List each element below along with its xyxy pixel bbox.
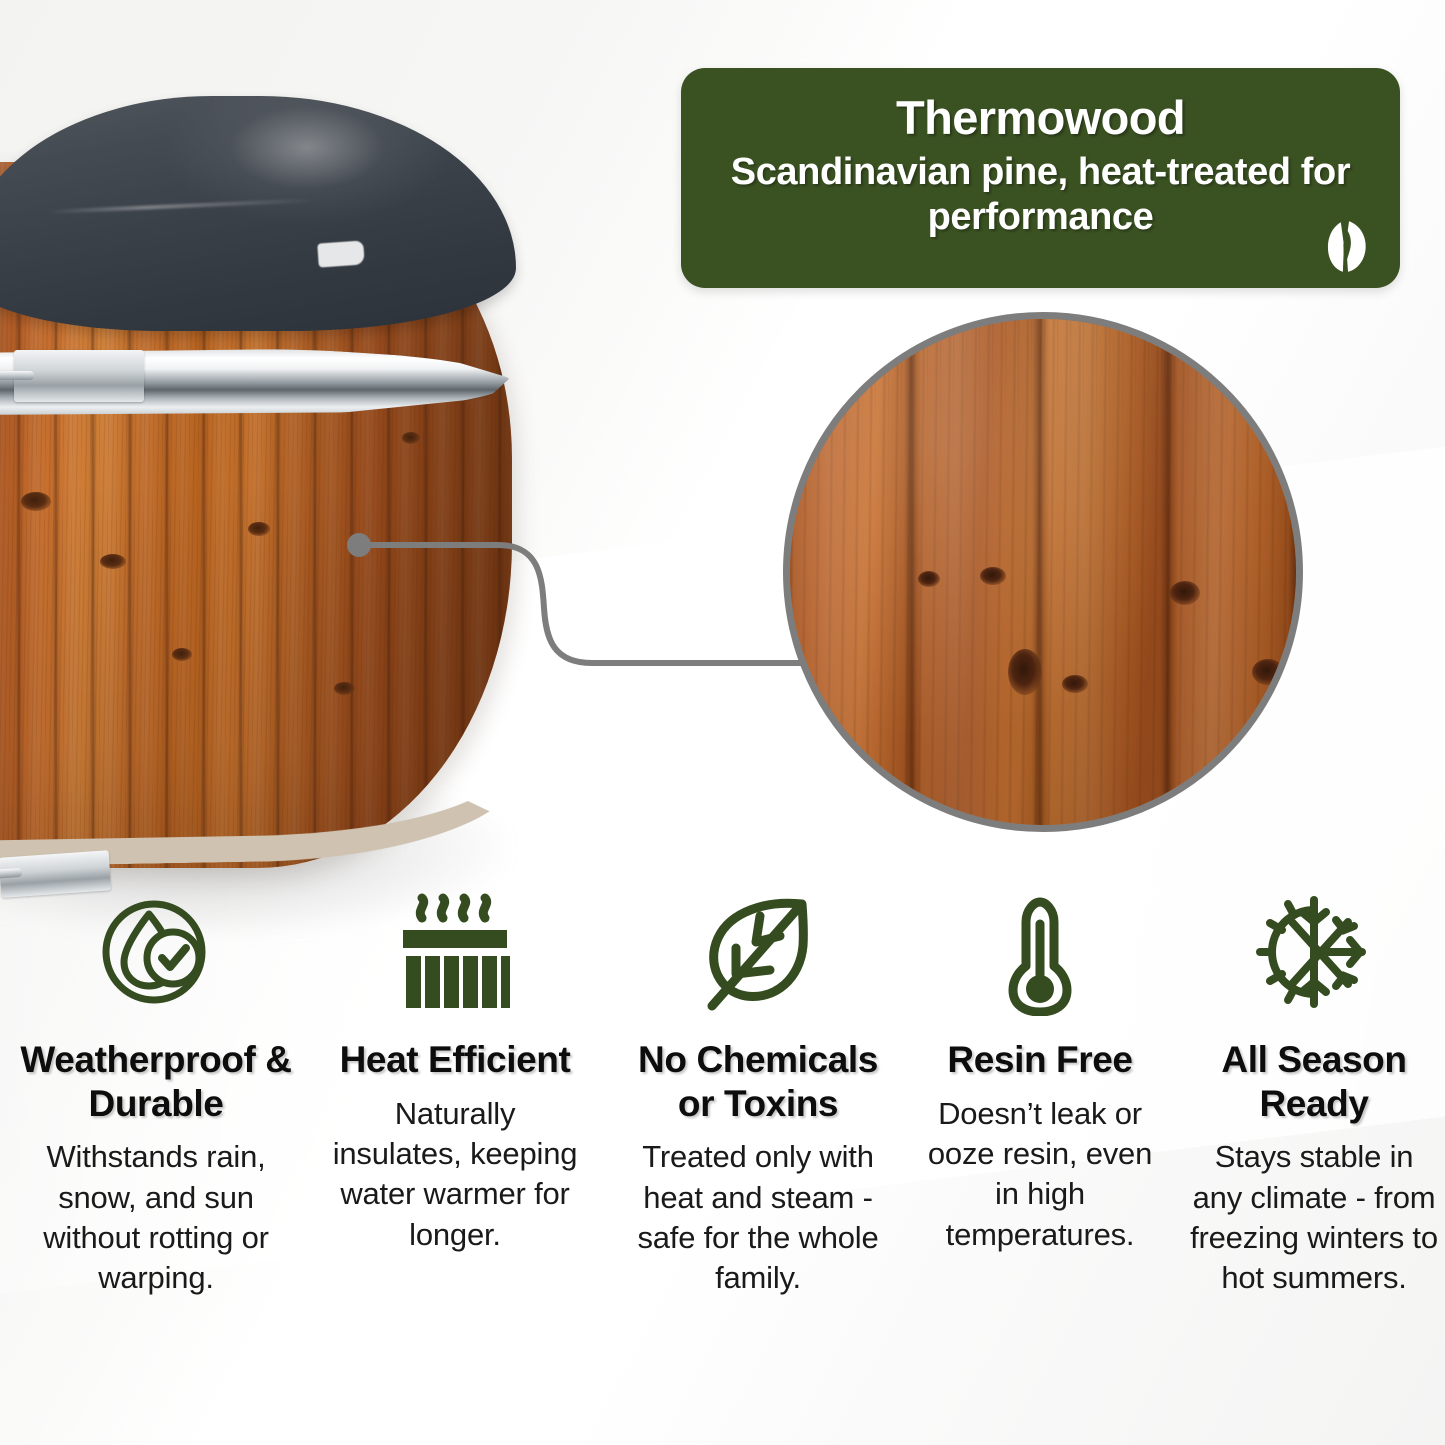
hot-tub-lid: [0, 96, 516, 331]
magnified-wood-grain-circle: [783, 312, 1303, 832]
wood-knot: [1062, 675, 1088, 693]
feature-title: Heat Efficient: [330, 1038, 580, 1082]
feature-title: All Season Ready: [1190, 1038, 1438, 1125]
wood-knot: [918, 571, 940, 587]
heat-radiator-icon: [330, 886, 580, 1018]
wood-knot: [1252, 659, 1284, 685]
feature-resin-free: Resin Free Doesn’t leak or ooze resin, e…: [925, 886, 1155, 1255]
title-badge: Thermowood Scandinavian pine, heat-treat…: [681, 68, 1400, 288]
wood-knot: [334, 682, 355, 695]
feature-title: No Chemicals or Toxins: [618, 1038, 898, 1125]
water-drop-check-icon: [20, 886, 292, 1018]
feature-description: Stays stable in any climate - from freez…: [1190, 1137, 1438, 1298]
feature-all-season: All Season Ready Stays stable in any cli…: [1190, 886, 1438, 1299]
wood-knot: [248, 522, 270, 536]
wood-knot: [1170, 581, 1200, 605]
feature-description: Naturally insulates, keeping water warme…: [330, 1094, 580, 1255]
wood-knot: [1008, 649, 1042, 695]
feature-heat-efficient: Heat Efficient Naturally insulates, keep…: [330, 886, 580, 1255]
feature-description: Doesn’t leak or ooze resin, even in high…: [925, 1094, 1155, 1255]
badge-subtitle: Scandinavian pine, heat-treated for perf…: [693, 150, 1388, 240]
wood-knot: [100, 554, 126, 569]
leaf-seed-logo-icon: [1314, 214, 1380, 280]
wood-knot: [980, 567, 1006, 585]
wood-knot: [172, 648, 192, 661]
feature-weatherproof: Weatherproof & Durable Withstands rain, …: [20, 886, 292, 1299]
feature-description: Withstands rain, snow, and sun without r…: [20, 1137, 292, 1298]
infographic-page: Thermowood Scandinavian pine, heat-treat…: [0, 0, 1445, 1445]
feature-description: Treated only with heat and steam - safe …: [618, 1137, 898, 1298]
lid-reflection-streak: [46, 198, 316, 214]
magnified-wood-texture: [784, 313, 1302, 831]
wood-knot: [21, 492, 51, 511]
sun-snowflake-icon: [1190, 886, 1438, 1018]
hoop-tensioner-rod-upper: [0, 371, 34, 380]
feature-no-chemicals: No Chemicals or Toxins Treated only with…: [618, 886, 898, 1299]
hot-tub-photo: [0, 96, 530, 864]
lid-highlight: [317, 240, 365, 267]
feature-title: Resin Free: [925, 1038, 1155, 1082]
wood-knot: [402, 432, 420, 444]
leaf-icon: [618, 886, 898, 1018]
thermometer-icon: [925, 886, 1155, 1018]
feature-row: Weatherproof & Durable Withstands rain, …: [0, 886, 1445, 1445]
badge-title: Thermowood: [681, 90, 1400, 145]
feature-title: Weatherproof & Durable: [20, 1038, 292, 1125]
